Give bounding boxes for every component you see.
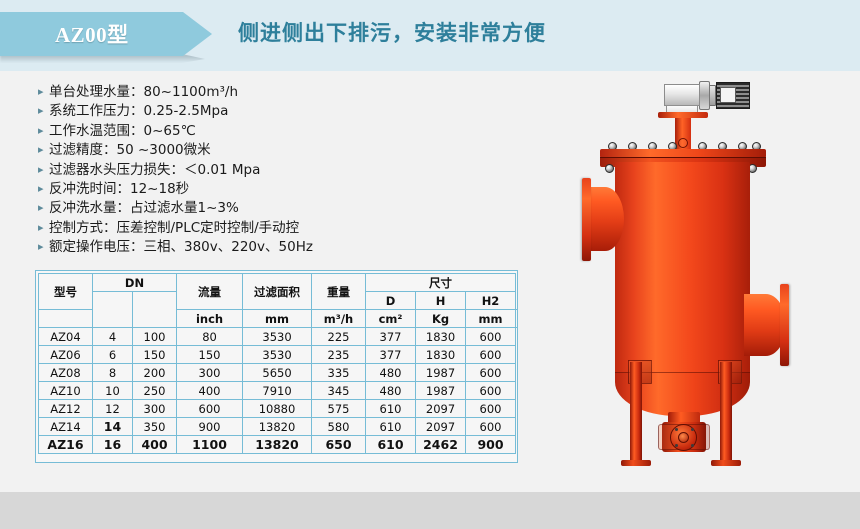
actuator-coupling-icon — [699, 81, 710, 110]
cell-inch: 16 — [93, 436, 133, 454]
cell-h2: 600 — [466, 346, 516, 364]
cell-h2: 600 — [466, 364, 516, 382]
cell-d: 610 — [366, 400, 416, 418]
support-leg — [630, 362, 642, 462]
cell-area: 5650 — [243, 364, 312, 382]
cell-h: 1987 — [416, 382, 466, 400]
cell-area: 3530 — [243, 328, 312, 346]
cell-d: 377 — [366, 346, 416, 364]
bolt-icon — [675, 428, 678, 431]
spec-text: 过滤精度：50 ~3000微米 — [49, 141, 211, 160]
triangle-bullet-icon: ▸ — [38, 141, 49, 160]
cell-weight: 575 — [312, 400, 366, 418]
model-badge-arrow: AZ00型 — [0, 12, 212, 56]
cell-weight: 225 — [312, 328, 366, 346]
list-item: ▸ 反冲洗时间：12~18秒 — [38, 180, 398, 199]
triangle-bullet-icon: ▸ — [38, 180, 49, 199]
col-header-flow: 流量 — [177, 274, 243, 310]
cell-h: 1830 — [416, 346, 466, 364]
cell-mm: 100 — [133, 328, 177, 346]
unit-cell-weight: Kg — [416, 310, 466, 328]
cell-model: AZ14 — [39, 418, 93, 436]
triangle-bullet-icon: ▸ — [38, 199, 49, 218]
cell-h: 1987 — [416, 364, 466, 382]
cell-area: 7910 — [243, 382, 312, 400]
cell-flow: 1100 — [177, 436, 243, 454]
neck-ring-icon — [678, 138, 688, 148]
table-row: AZ12 12 300 600 10880 575 610 2097 600 — [39, 400, 516, 418]
cell-weight: 335 — [312, 364, 366, 382]
cell-flow: 150 — [177, 346, 243, 364]
triangle-bullet-icon: ▸ — [38, 83, 49, 102]
table-row: AZ04 4 100 80 3530 225 377 1830 600 — [39, 328, 516, 346]
spec-text: 控制方式：压差控制/PLC定时控制/手动控 — [49, 219, 299, 238]
list-item: ▸ 工作水温范围：0~65℃ — [38, 122, 398, 141]
cell-weight: 580 — [312, 418, 366, 436]
cell-inch: 6 — [93, 346, 133, 364]
unit-cell-mm: mm — [243, 310, 312, 328]
table-header-row-1: 型号 DN 流量 过滤面积 重量 尺寸 — [39, 274, 516, 292]
spec-text: 反冲洗水量：占过滤水量1~3% — [49, 199, 239, 218]
col-header-size: 尺寸 — [366, 274, 516, 292]
cell-flow: 400 — [177, 382, 243, 400]
actuator-shaft-icon — [709, 85, 716, 106]
bolt-icon — [605, 164, 614, 173]
col-header-size-d: D — [366, 292, 416, 310]
inlet-flange — [582, 178, 591, 261]
cell-weight: 235 — [312, 346, 366, 364]
col-header-weight: 重量 — [312, 274, 366, 310]
leg-base-plate — [711, 460, 741, 466]
specification-list: ▸ 单台处理水量：80~1100m³/h ▸ 系统工作压力：0.25-2.5Mp… — [38, 83, 398, 258]
cell-h2: 600 — [466, 400, 516, 418]
spec-text: 额定操作电压：三相、380v、220v、50Hz — [49, 238, 313, 257]
list-item: ▸ 过滤精度：50 ~3000微米 — [38, 141, 398, 160]
spec-text: 单台处理水量：80~1100m³/h — [49, 83, 238, 102]
col-header-model: 型号 — [39, 274, 93, 310]
col-header-dn-mm-spacer — [133, 292, 177, 328]
cell-mm: 400 — [133, 436, 177, 454]
table-row: AZ08 8 200 300 5650 335 480 1987 600 — [39, 364, 516, 382]
vessel-body — [615, 162, 750, 382]
cell-flow: 600 — [177, 400, 243, 418]
actuator-body-icon — [664, 84, 700, 106]
cell-h2: 900 — [466, 436, 516, 454]
spec-text: 反冲洗时间：12~18秒 — [49, 180, 189, 199]
support-leg — [720, 362, 732, 462]
cell-h: 2097 — [416, 418, 466, 436]
floor-band — [0, 492, 860, 529]
table-row: AZ06 6 150 150 3530 235 377 1830 600 — [39, 346, 516, 364]
cell-inch: 4 — [93, 328, 133, 346]
cell-inch: 10 — [93, 382, 133, 400]
table-row: AZ10 10 250 400 7910 345 480 1987 600 — [39, 382, 516, 400]
list-item: ▸ 反冲洗水量：占过滤水量1~3% — [38, 199, 398, 218]
cell-model: AZ06 — [39, 346, 93, 364]
cell-inch: 12 — [93, 400, 133, 418]
unit-cell-model — [39, 310, 93, 328]
cell-d: 610 — [366, 418, 416, 436]
col-header-size-h2: H2 — [466, 292, 516, 310]
cell-d: 480 — [366, 382, 416, 400]
unit-cell-area: cm² — [366, 310, 416, 328]
neck-plate — [658, 112, 708, 118]
unit-cell-size-mm: mm — [466, 310, 516, 328]
list-item: ▸ 过滤器水头压力损失：＜0.01 Mpa — [38, 161, 398, 180]
specification-table: 型号 DN 流量 过滤面积 重量 尺寸 D H H2 inch mm m³/h … — [38, 273, 516, 454]
cell-model: AZ08 — [39, 364, 93, 382]
inlet-nozzle — [586, 187, 624, 251]
cell-model: AZ04 — [39, 328, 93, 346]
spec-text: 系统工作压力：0.25-2.5Mpa — [49, 102, 228, 121]
cell-weight: 345 — [312, 382, 366, 400]
triangle-bullet-icon: ▸ — [38, 161, 49, 180]
motor-faceplate-icon — [720, 87, 736, 103]
triangle-bullet-icon: ▸ — [38, 219, 49, 238]
cell-area: 13820 — [243, 418, 312, 436]
product-illustration — [580, 72, 860, 492]
col-header-area: 过滤面积 — [243, 274, 312, 310]
cell-flow: 80 — [177, 328, 243, 346]
cell-flow: 900 — [177, 418, 243, 436]
spec-text: 过滤器水头压力损失：＜0.01 Mpa — [49, 161, 260, 180]
cell-mm: 150 — [133, 346, 177, 364]
cell-flow: 300 — [177, 364, 243, 382]
cell-h: 2462 — [416, 436, 466, 454]
table-row: AZ14 14 350 900 13820 580 610 2097 600 — [39, 418, 516, 436]
cell-inch: 14 — [93, 418, 133, 436]
cell-mm: 300 — [133, 400, 177, 418]
list-item: ▸ 额定操作电压：三相、380v、220v、50Hz — [38, 238, 398, 257]
outlet-flange — [780, 284, 789, 366]
cell-mm: 250 — [133, 382, 177, 400]
cell-h2: 600 — [466, 328, 516, 346]
col-header-dn: DN — [93, 274, 177, 292]
col-header-dn-inch-spacer — [93, 292, 133, 328]
bolt-icon — [675, 444, 678, 447]
col-header-size-h: H — [416, 292, 466, 310]
bolt-icon — [691, 444, 694, 447]
cell-h: 2097 — [416, 400, 466, 418]
leg-base-plate — [621, 460, 651, 466]
cell-area: 13820 — [243, 436, 312, 454]
triangle-bullet-icon: ▸ — [38, 122, 49, 141]
spec-text: 工作水温范围：0~65℃ — [49, 122, 196, 141]
table-row: AZ16 16 400 1100 13820 650 610 2462 900 — [39, 436, 516, 454]
triangle-bullet-icon: ▸ — [38, 102, 49, 121]
cell-d: 610 — [366, 436, 416, 454]
header-band: AZ00型 侧进侧出下排污，安装非常方便 — [0, 0, 860, 71]
unit-cell-flow: m³/h — [312, 310, 366, 328]
cell-h2: 600 — [466, 382, 516, 400]
page-title: 侧进侧出下排污，安装非常方便 — [238, 17, 546, 47]
cell-h: 1830 — [416, 328, 466, 346]
triangle-bullet-icon: ▸ — [38, 238, 49, 257]
cell-area: 3530 — [243, 346, 312, 364]
model-badge-label: AZ00型 — [55, 19, 129, 49]
cell-mm: 350 — [133, 418, 177, 436]
unit-cell-inch: inch — [177, 310, 243, 328]
cell-model: AZ10 — [39, 382, 93, 400]
cell-d: 377 — [366, 328, 416, 346]
cell-h2: 600 — [466, 418, 516, 436]
cell-weight: 650 — [312, 436, 366, 454]
list-item: ▸ 单台处理水量：80~1100m³/h — [38, 83, 398, 102]
cell-mm: 200 — [133, 364, 177, 382]
bolt-icon — [691, 428, 694, 431]
cell-model: AZ12 — [39, 400, 93, 418]
list-item: ▸ 控制方式：压差控制/PLC定时控制/手动控 — [38, 219, 398, 238]
cell-area: 10880 — [243, 400, 312, 418]
list-item: ▸ 系统工作压力：0.25-2.5Mpa — [38, 102, 398, 121]
cell-model: AZ16 — [39, 436, 93, 454]
drain-valve-port — [678, 432, 689, 443]
cell-inch: 8 — [93, 364, 133, 382]
cell-d: 480 — [366, 364, 416, 382]
